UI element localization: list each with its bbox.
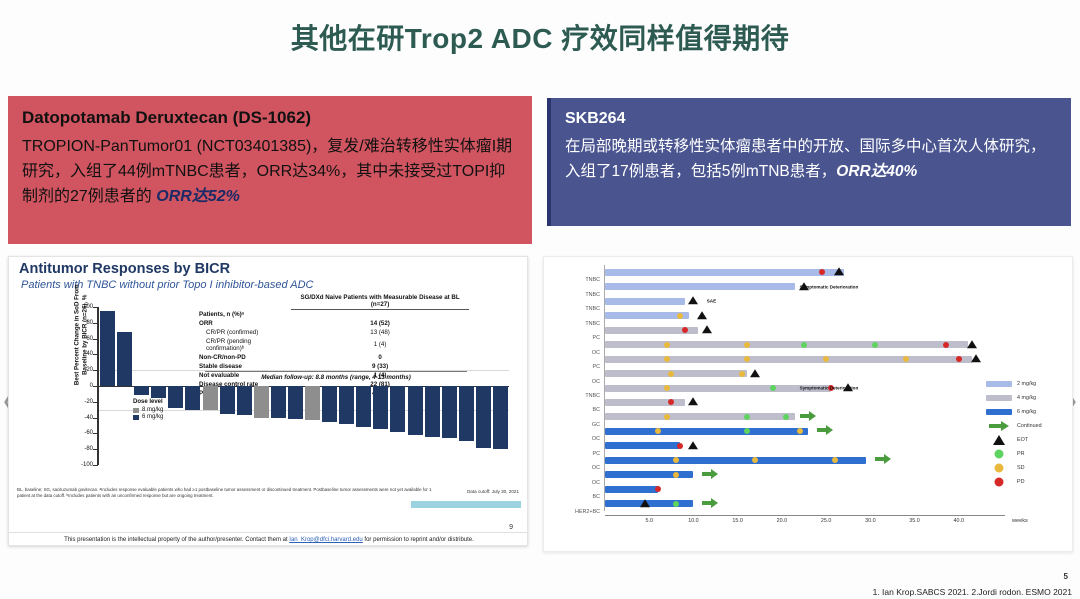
eot-triangle-icon [971,354,981,362]
swimmer-annotation: SAE [707,299,716,304]
waterfall-bar [100,311,115,386]
axis-tick-label: 10.0 [688,518,699,524]
waterfall-bar [117,332,132,386]
swimmer-annotation: Symptomatic Deterioration [800,284,859,289]
swimmer-bar [605,356,972,363]
swimmer-row-label: PC [593,335,601,341]
response-marker-sd [744,342,750,348]
axis-tick-label: -100 [69,462,93,468]
eot-triangle-icon [750,369,760,377]
eot-triangle-icon [967,340,977,348]
swimmer-row-label: PC [593,451,601,457]
response-marker-sd [664,385,670,391]
antitumor-waterfall-figure: Antitumor Responses by BICR Patients wit… [8,256,528,546]
axis-tick-mark [93,433,98,434]
axis-tick-mark [93,386,98,387]
response-marker-pd [655,486,661,492]
disclaimer-suffix: for permission to reprint and/or distrib… [363,537,474,543]
axis-tick-label: -80 [69,446,93,452]
swimmer-row-label: OC [592,480,600,486]
left-figure-title: Antitumor Responses by BICR [19,261,230,277]
skb264-swimmer-figure: TNBCTNBCTNBCTNBCPCOCPCOCTNBCBCGCOCPCOCOC… [543,256,1073,552]
eot-triangle-icon [688,441,698,449]
disclaimer-prefix: This presentation is the intellectual pr… [64,537,289,543]
swimmer-bar [605,428,808,435]
axis-tick-label: 5.0 [645,518,653,524]
response-marker-sd [664,414,670,420]
swimmer-row-label: TNBC [585,321,600,327]
continued-arrow-icon [702,495,718,513]
response-marker-pr [872,342,878,348]
legend-item: 6 mg/kg [986,407,1066,416]
waterfall-chart: Best Percent Change in SoD From Baseline… [69,301,519,479]
waterfall-bar [203,386,218,410]
legend-label: 6 mg/kg [142,414,163,420]
swimmer-bar [605,385,831,392]
swimmer-bar [605,413,795,420]
swimmer-row-label: HER2+BC [575,509,600,515]
response-marker-sd [668,371,674,377]
waterfall-bar [237,386,252,415]
waterfall-bar [168,386,183,408]
skb264-heading: SKB264 [565,110,1057,128]
continued-arrow-icon [702,466,718,484]
axis-tick-label: 35.0 [909,518,920,524]
axis-tick-label: 20.0 [777,518,788,524]
slide-page-number: 5 [1064,572,1068,581]
legend-label: 6 mg/kg [1017,409,1036,415]
datopotamab-body-text: TROPION-PanTumor01 (NCT03401385)，复发/难治转移… [22,138,512,205]
datopotamab-body: TROPION-PanTumor01 (NCT03401385)，复发/难治转移… [22,135,518,209]
legend-swatch [986,409,1012,415]
swimmer-bar [605,370,747,377]
legend-item: PD [986,477,1066,486]
presenter-email-link[interactable]: Ian_Krop@dfci.harvard.edu [289,537,362,543]
waterfall-bar [271,386,286,418]
waterfall-bar [288,386,303,419]
legend-label: PD [1017,479,1025,485]
eot-triangle-icon [697,311,707,319]
waterfall-legend: Dose level 8 mg/kg6 mg/kg [133,399,163,420]
legend-item: EOT [986,435,1066,444]
swimmer-row-label: PC [593,364,601,370]
waterfall-bar [339,386,354,424]
waterfall-bar [425,386,440,437]
datopotamab-orr-highlight: ORR达52% [156,188,240,205]
response-marker-pr [801,342,807,348]
axis-tick-label: 0 [69,383,93,389]
left-figure-slide-number: 9 [509,524,513,531]
response-marker-sd [832,457,838,463]
waterfall-plot-area [99,307,509,465]
waterfall-bar [459,386,474,441]
axis-tick-mark [93,449,98,450]
waterfall-bar [356,386,371,427]
waterfall-bar [493,386,508,449]
waterfall-legend-title: Dose level [133,399,163,405]
swimmer-bar [605,283,795,290]
legend-swatch [986,381,1012,387]
response-marker-pd [943,342,949,348]
response-marker-pd [677,443,683,449]
swimmer-bar [605,298,685,305]
swimmer-x-axis-line [605,515,1005,516]
response-marker-sd [664,356,670,362]
data-cutoff-label: Data cutoff: July 30, 2021 [467,489,519,494]
legend-item: 2 mg/kg [986,379,1066,388]
swimmer-row-label: GC [592,422,600,428]
legend-label: 2 mg/kg [1017,381,1036,387]
axis-tick-label: 100 [69,304,93,310]
waterfall-bar [442,386,457,438]
left-figure-footnote: BL, baseline; SG, sacituzumab govitecan.… [17,487,437,500]
swimmer-bar [605,486,658,493]
legend-label: SD [1017,465,1025,471]
response-marker-pd [682,327,688,333]
data-cutoff-bar [411,501,521,508]
skb264-body: 在局部晚期或转移性实体瘤患者中的开放、国际多中心首次人体研究，入组了17例患者，… [565,135,1057,185]
legend-label: 8 mg/kg [142,407,163,413]
axis-tick-label: 60 [69,336,93,342]
swimmer-bar [605,442,680,449]
swimmer-row-label: OC [592,465,600,471]
response-marker-sd [823,356,829,362]
swimmer-row-label: OC [592,350,600,356]
waterfall-bar [254,386,269,418]
eot-triangle-icon [986,435,1012,445]
eot-triangle-icon [702,325,712,333]
datopotamab-info-box: Datopotamab Deruxtecan (DS-1062) TROPION… [8,96,532,244]
legend-swatch [986,395,1012,401]
response-marker-sd [655,428,661,434]
axis-tick-mark [93,402,98,403]
slide-title-bar: 其他在研Trop2 ADC 疗效同样值得期待 [0,8,1080,66]
swimmer-legend: 2 mg/kg4 mg/kg6 mg/kgContinuedEOTPRSDPD [986,379,1066,491]
axis-tick-label: -60 [69,430,93,436]
swimmer-row-label: TNBC [585,306,600,312]
response-marker-sd [673,472,679,478]
response-marker-pr [673,501,679,507]
axis-tick-mark [93,418,98,419]
legend-item: 8 mg/kg [133,407,163,413]
swimmer-row-label: BC [593,407,601,413]
swimmer-row-label: BC [593,494,601,500]
waterfall-bar [305,386,320,420]
swimmer-row-label: TNBC [585,277,600,283]
axis-tick-label: 20 [69,367,93,373]
axis-tick-label: 40.0 [954,518,965,524]
page-title: 其他在研Trop2 ADC 疗效同样值得期待 [291,17,789,57]
waterfall-bar [322,386,337,422]
response-marker-sd [673,457,679,463]
swimmer-x-axis-label: weeks [1012,518,1028,524]
continued-arrow-icon [986,421,1012,431]
swimmer-plot-area: Symptomatic DeteriorationSAESymptomatic … [605,265,1003,511]
legend-dot-pd [986,477,1012,487]
presentation-disclaimer: This presentation is the intellectual pr… [9,532,528,543]
waterfall-bar [373,386,388,429]
swimmer-bar [605,341,968,348]
slide-root: 其他在研Trop2 ADC 疗效同样值得期待 Datopotamab Derux… [0,0,1080,599]
legend-label: Continued [1017,423,1042,429]
response-marker-sd [739,371,745,377]
response-marker-pd [956,356,962,362]
legend-item: PR [986,449,1066,458]
continued-arrow-icon [817,422,833,440]
legend-swatch [133,415,139,420]
waterfall-bar [408,386,423,435]
eot-triangle-icon [640,499,650,507]
eot-triangle-icon [688,398,698,406]
legend-dot-pr [986,449,1012,459]
axis-tick-label: 40 [69,351,93,357]
skb264-body-text: 在局部晚期或转移性实体瘤患者中的开放、国际多中心首次人体研究，入组了17例患者，… [565,138,1046,180]
response-marker-sd [797,428,803,434]
swimmer-row-label: TNBC [585,393,600,399]
response-marker-sd [744,356,750,362]
continued-arrow-icon [875,451,891,469]
response-marker-sd [752,457,758,463]
waterfall-bar [185,386,200,410]
axis-tick-label: 80 [69,320,93,326]
axis-tick-mark [93,307,98,308]
waterfall-bar [476,386,491,448]
eot-triangle-icon [688,296,698,304]
axis-tick-mark [93,323,98,324]
legend-label: PR [1017,451,1025,457]
axis-tick-label: 15.0 [732,518,743,524]
datopotamab-heading: Datopotamab Deruxtecan (DS-1062) [22,108,518,128]
waterfall-legend-items: 8 mg/kg6 mg/kg [133,407,163,420]
eot-triangle-icon [834,267,844,275]
left-figure-subtitle: Patients with TNBC without prior Topo I … [21,279,313,291]
legend-dot-sd [986,463,1012,473]
swimmer-row-label: OC [592,436,600,442]
axis-tick-mark [93,465,98,466]
axis-tick-mark [93,339,98,340]
response-marker-pd [819,269,825,275]
swimmer-bar [605,457,866,464]
response-marker-sd [664,342,670,348]
response-marker-sd [903,356,909,362]
legend-label: EOT [1017,437,1028,443]
swimmer-annotation: Symptomatic Deterioration [800,386,859,391]
legend-item: SD [986,463,1066,472]
axis-tick-label: 25.0 [821,518,832,524]
axis-tick-label: -40 [69,415,93,421]
waterfall-bar [220,386,235,414]
response-marker-pd [668,399,674,405]
axis-tick-mark [93,370,98,371]
legend-swatch [133,408,139,413]
legend-label: 4 mg/kg [1017,395,1036,401]
skb264-info-box: SKB264 在局部晚期或转移性实体瘤患者中的开放、国际多中心首次人体研究，入组… [547,98,1071,226]
axis-tick-label: -20 [69,399,93,405]
swimmer-row-label: TNBC [585,292,600,298]
axis-tick-mark [93,354,98,355]
response-marker-pr [744,414,750,420]
legend-item: 6 mg/kg [133,414,163,420]
response-marker-pr [770,385,776,391]
continued-arrow-icon [800,408,816,426]
waterfall-bar [390,386,405,432]
swimmer-row-label: OC [592,379,600,385]
waterfall-bar [134,386,149,395]
gridline [99,370,509,371]
waterfall-bar [151,386,166,398]
response-marker-pr [783,414,789,420]
axis-tick-label: 30.0 [865,518,876,524]
swimmer-bar [605,471,693,478]
response-marker-pr [744,428,750,434]
waterfall-y-ticks: 100806040200-20-40-60-80-100 [69,301,97,471]
skb264-orr-highlight: ORR达40% [836,163,917,180]
legend-item: Continued [986,421,1066,430]
slide-citation: 1. Ian Krop.SABCS 2021. 2.Jordi rodon. E… [873,587,1072,597]
swimmer-bar [605,269,844,276]
response-marker-sd [677,313,683,319]
legend-item: 4 mg/kg [986,393,1066,402]
